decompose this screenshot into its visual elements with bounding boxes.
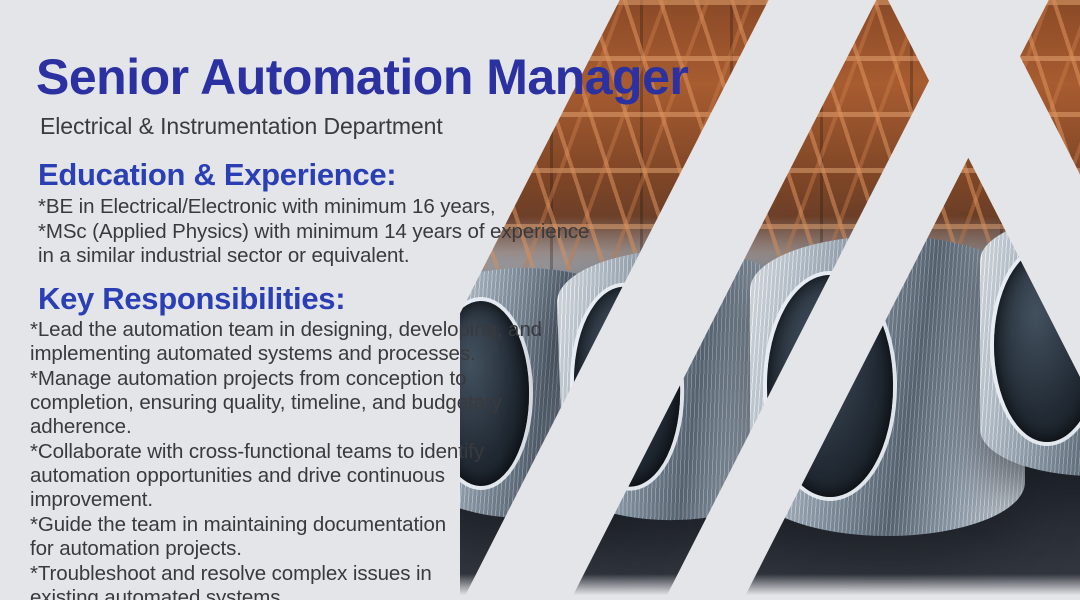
poster-content: Senior Automation Manager Electrical & I… xyxy=(0,0,700,600)
responsibilities-section: Key Responsibilities: *Lead the automati… xyxy=(36,282,700,600)
education-section: Education & Experience: *BE in Electrica… xyxy=(36,158,700,268)
list-item: *Manage automation projects from concept… xyxy=(30,367,700,439)
job-subtitle: Electrical & Instrumentation Department xyxy=(40,113,700,140)
job-title: Senior Automation Manager xyxy=(36,52,700,103)
list-item: *Collaborate with cross-functional teams… xyxy=(30,440,700,512)
list-item: *MSc (Applied Physics) with minimum 14 y… xyxy=(38,220,700,268)
education-heading: Education & Experience: xyxy=(38,158,700,193)
education-list: *BE in Electrical/Electronic with minimu… xyxy=(36,195,700,268)
list-item: *Troubleshoot and resolve complex issues… xyxy=(30,562,700,600)
list-item: *Lead the automation team in designing, … xyxy=(30,318,700,366)
job-posting-poster: Senior Automation Manager Electrical & I… xyxy=(0,0,1080,600)
list-item: *BE in Electrical/Electronic with minimu… xyxy=(38,195,700,219)
responsibilities-heading: Key Responsibilities: xyxy=(38,282,700,317)
list-item: *Guide the team in maintaining documenta… xyxy=(30,513,700,561)
responsibilities-list: *Lead the automation team in designing, … xyxy=(36,318,700,600)
